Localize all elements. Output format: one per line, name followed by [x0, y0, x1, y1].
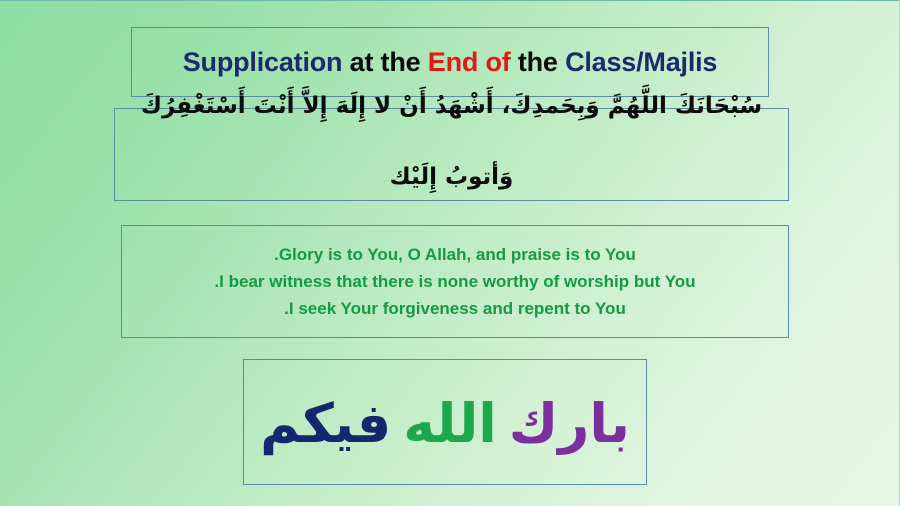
- barakallah-word-barak: بارك: [509, 392, 630, 455]
- title-segment-end-of: End of: [428, 47, 511, 77]
- title-segment-class-majlis: Class/Majlis: [565, 47, 717, 77]
- translation-line: .Glory is to You, O Allah, and praise is…: [274, 241, 636, 268]
- title-box: Supplication at the End of the Class/Maj…: [131, 27, 769, 97]
- translation-line: .I seek Your forgiveness and repent to Y…: [284, 295, 626, 322]
- arabic-dua-box: سُبْحَانَكَ اللَّهُمَّ وَبِحَمدِكَ، أَشْ…: [114, 108, 789, 201]
- arabic-dua-line-1: سُبْحَانَكَ اللَّهُمَّ وَبِحَمدِكَ، أَشْ…: [115, 93, 788, 119]
- barakallah-word-allah: الله: [403, 392, 497, 455]
- title-segment-the: the: [511, 47, 566, 77]
- slide-canvas: Supplication at the End of the Class/Maj…: [0, 0, 900, 506]
- arabic-dua-line-2: وَأتوبُ إِلَيْك: [115, 164, 788, 190]
- page-title: Supplication at the End of the Class/Maj…: [183, 49, 718, 76]
- translation-line: .I bear witness that there is none worth…: [214, 268, 695, 295]
- translation-box: .Glory is to You, O Allah, and praise is…: [121, 225, 789, 338]
- barakallah-box: باركاللهفيكم: [243, 359, 647, 485]
- title-segment-supplication: Supplication: [183, 47, 343, 77]
- barakallah-text: باركاللهفيكم: [260, 393, 630, 455]
- title-segment-at-the: at the: [342, 47, 427, 77]
- barakallah-word-feekum: فيكم: [260, 392, 391, 455]
